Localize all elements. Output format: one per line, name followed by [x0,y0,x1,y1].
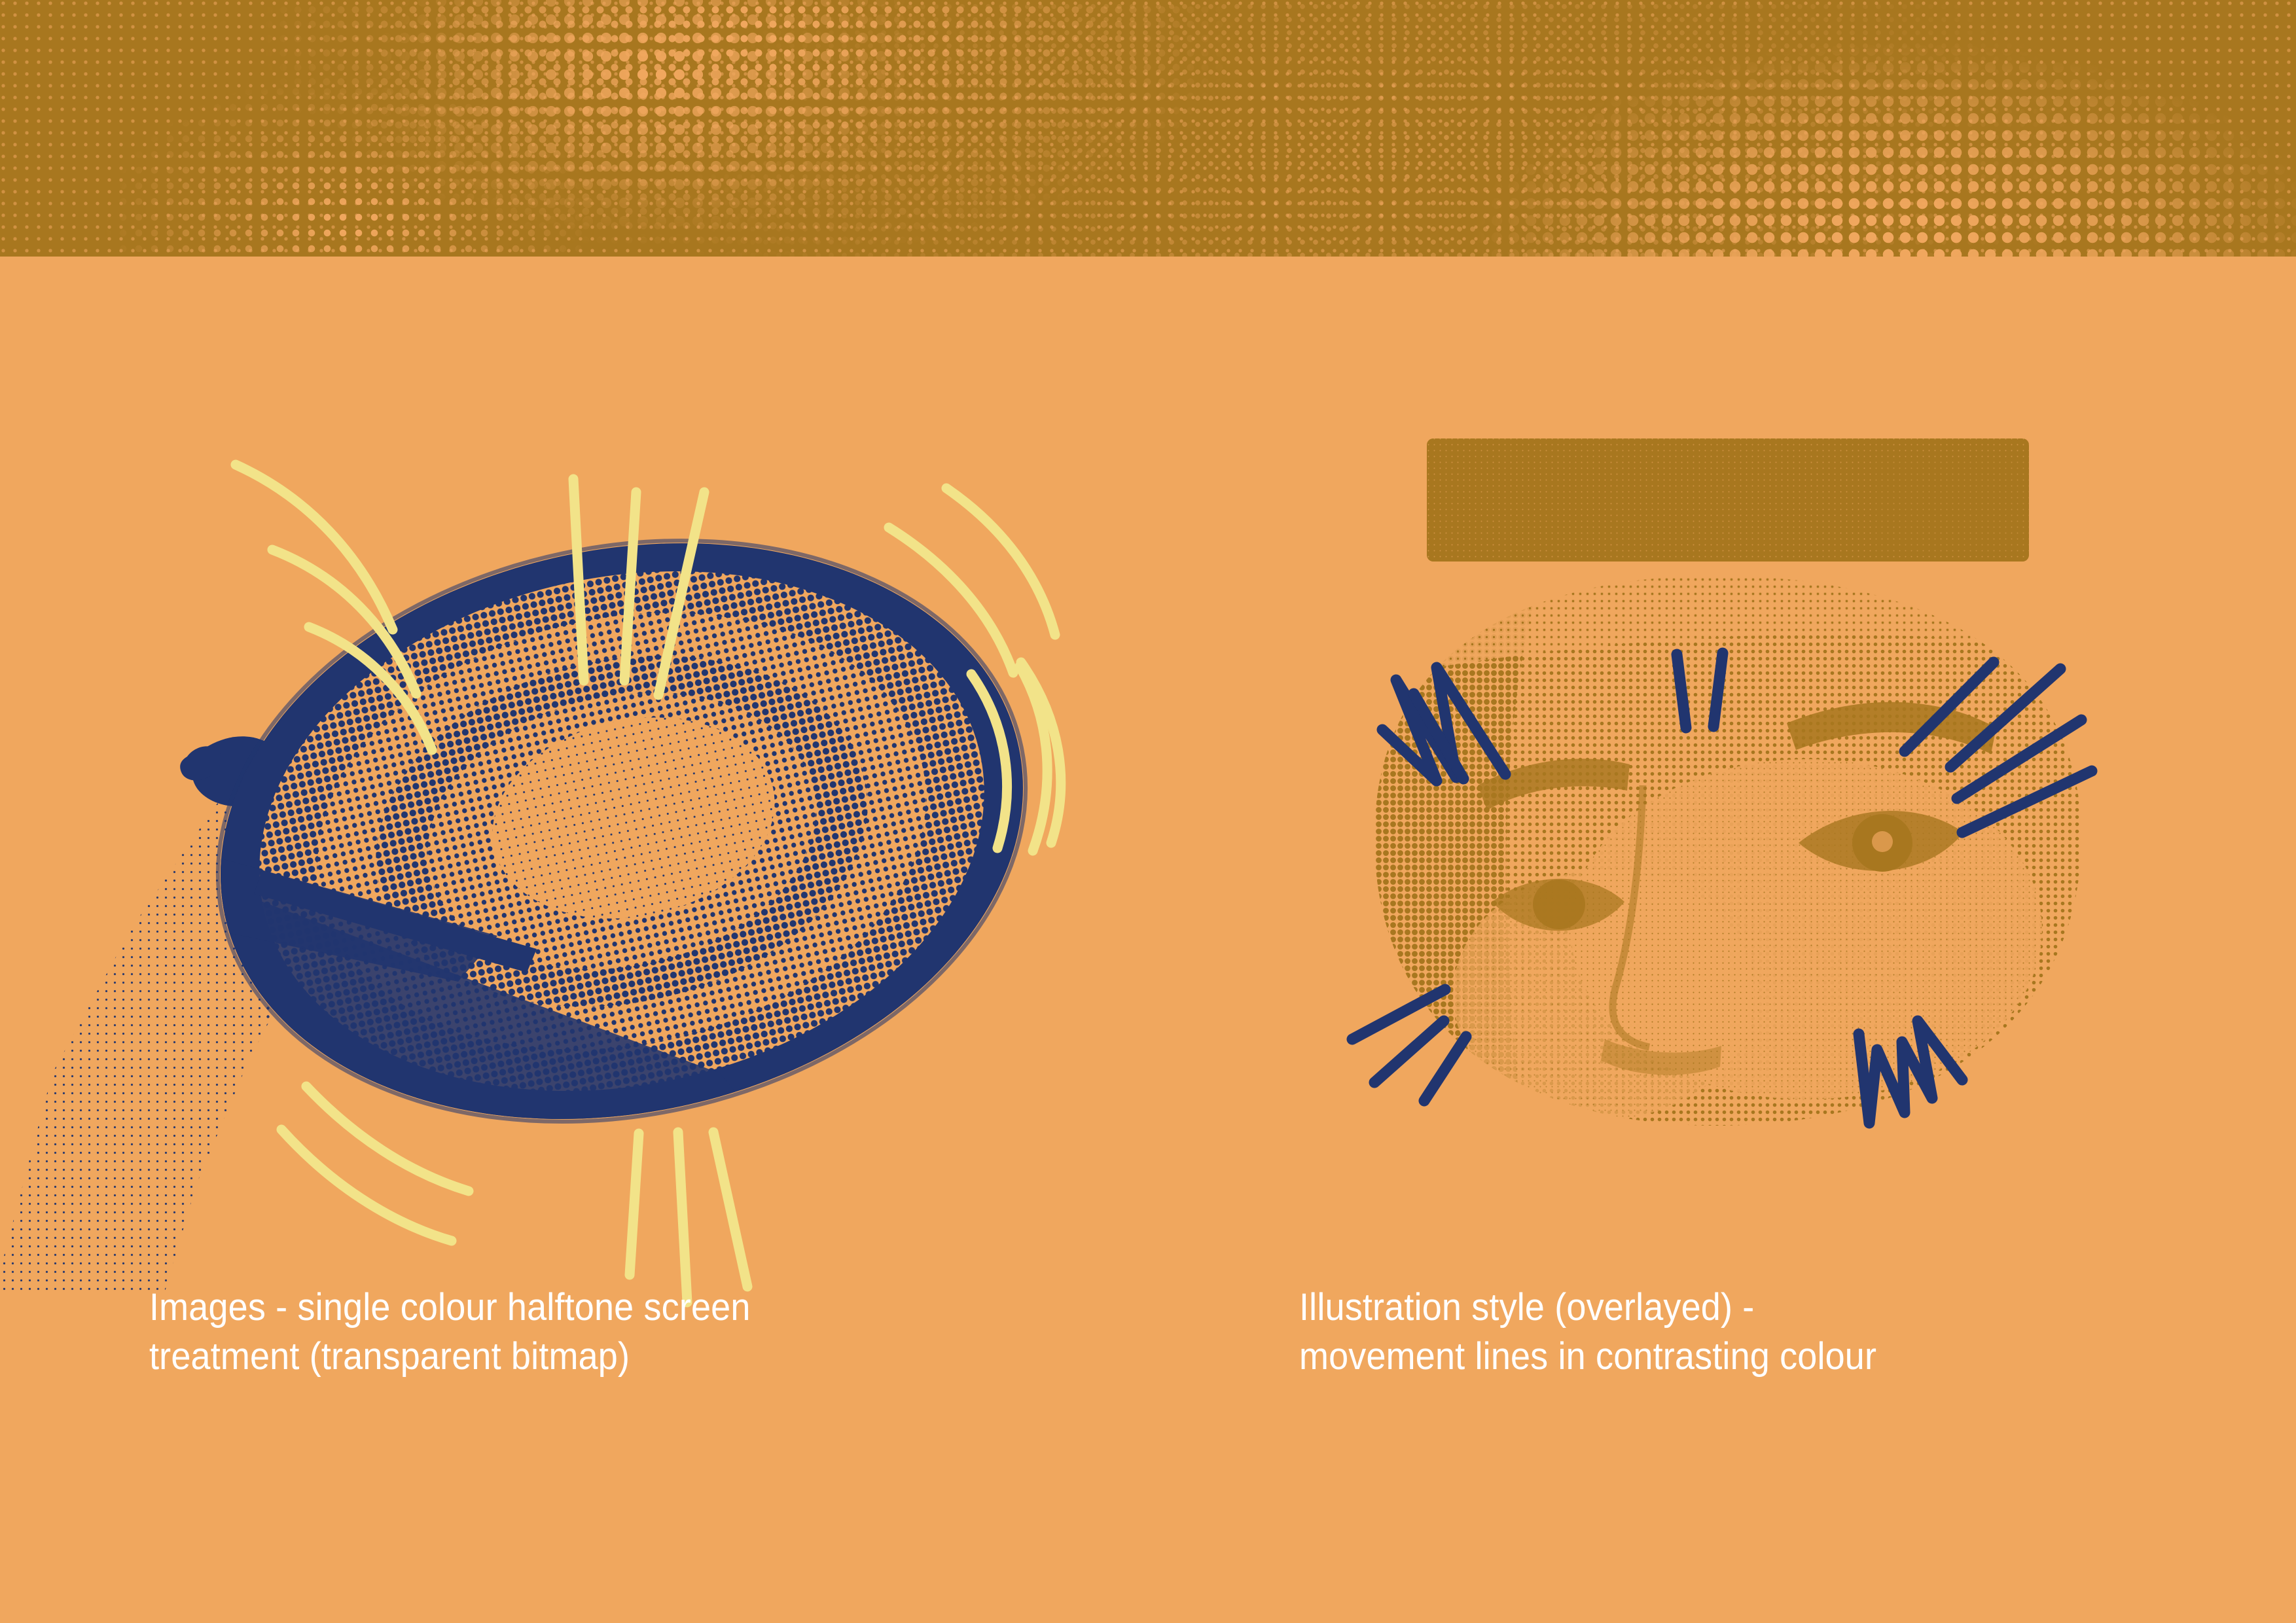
caption-left: Images - single colour halftone screen t… [149,1283,1170,1382]
caption-left-text: Images - single colour halftone screen t… [149,1283,751,1382]
movement-ray-ll-3 [1424,1037,1466,1101]
gold-halftone-bar [1427,438,2029,562]
motion-ray-bottom-3 [713,1132,747,1287]
motion-ray-bottom-1 [630,1133,639,1275]
caption-right: Illustration style (overlayed) - movemen… [1299,1283,2281,1382]
motion-ray-bottom-2 [678,1132,687,1302]
motion-arc-ll-2 [281,1130,452,1241]
iris-left [1533,880,1585,929]
face-squircle-halftone [1361,563,2094,1145]
motion-arc-ul-1 [236,465,393,630]
motion-arc-ur-1 [946,488,1055,635]
brand-guideline-slide: Images - single colour halftone screen t… [0,0,2296,1623]
movement-ray-ll-2 [1374,1021,1444,1082]
caption-right-text: Illustration style (overlayed) - movemen… [1299,1283,1876,1382]
